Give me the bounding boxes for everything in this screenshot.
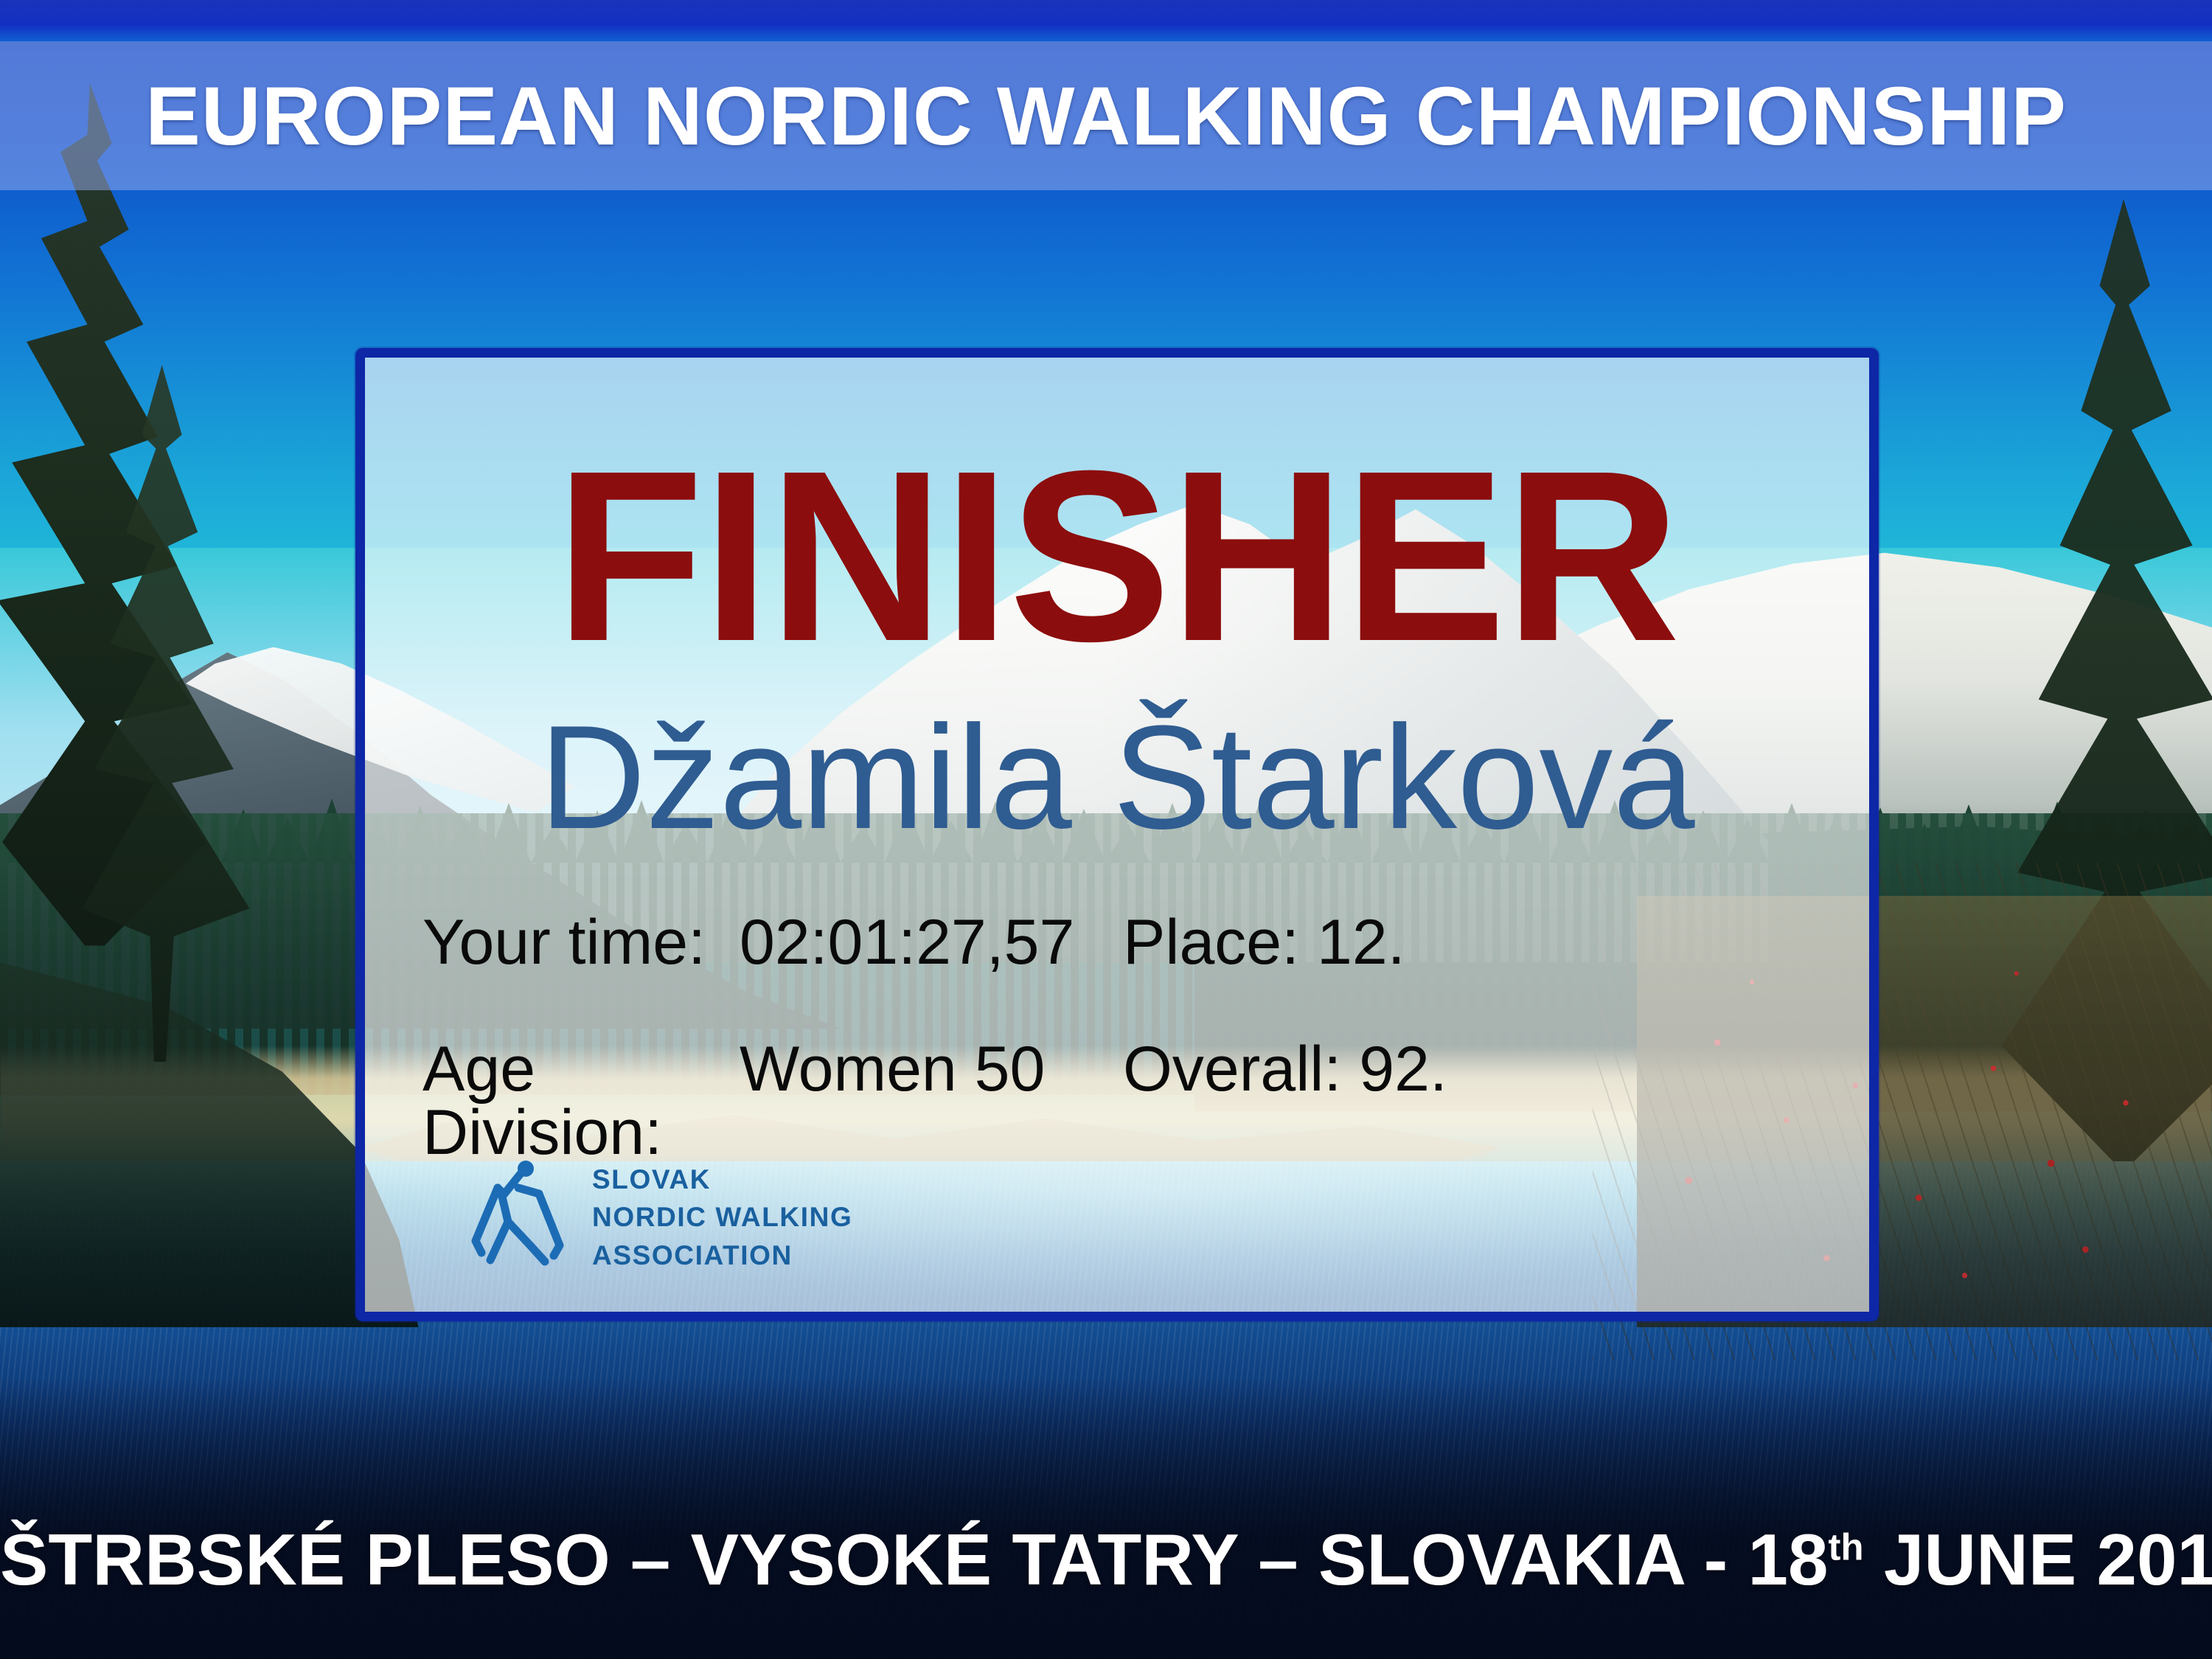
footer-suffix: JUNE 2016	[1864, 1519, 2212, 1600]
stat-row-time: Your time: 02:01:27,57 Place: 12.	[422, 911, 1809, 974]
footer-prefix: ŠTRBSKÉ PLESO – VYSOKÉ TATRY – SLOVAKIA …	[0, 1519, 1829, 1600]
athlete-name: Džamila Štarková	[365, 704, 1869, 852]
finisher-certificate-card: FINISHER Džamila Štarková Your time: 02:…	[355, 348, 1879, 1321]
overall-value: 92.	[1359, 1037, 1447, 1101]
page-title: EUROPEAN NORDIC WALKING CHAMPIONSHIP	[145, 69, 2067, 164]
place-label: Place:	[1093, 911, 1299, 974]
logo-line-2: NORDIC WALKING	[592, 1198, 852, 1236]
overall-label: Overall:	[1093, 1037, 1341, 1101]
logo-line-1: SLOVAK	[592, 1161, 852, 1198]
status-title: FINISHER	[365, 440, 1869, 672]
place-value: 12.	[1317, 911, 1405, 974]
top-accent-strip	[0, 0, 2212, 41]
walker-head	[518, 1161, 534, 1177]
stat-row-division: Age Division: Women 50 Overall: 92.	[422, 1037, 1809, 1164]
logo-line-3: ASSOCIATION	[592, 1237, 852, 1274]
certificate-page: EUROPEAN NORDIC WALKING CHAMPIONSHIP FIN…	[0, 0, 2212, 1659]
footer-ordinal: th	[1829, 1526, 1864, 1568]
nordic-walker-icon	[465, 1158, 576, 1276]
age-division-value: Women 50	[740, 1037, 1093, 1101]
association-logo: SLOVAK NORDIC WALKING ASSOCIATION	[465, 1158, 852, 1276]
time-value: 02:01:27,57	[740, 911, 1093, 974]
header-banner: EUROPEAN NORDIC WALKING CHAMPIONSHIP	[0, 41, 2212, 190]
association-logo-text: SLOVAK NORDIC WALKING ASSOCIATION	[592, 1161, 852, 1273]
event-location-date: ŠTRBSKÉ PLESO – VYSOKÉ TATRY – SLOVAKIA …	[0, 1518, 2212, 1601]
time-label: Your time:	[422, 911, 740, 974]
age-division-label: Age Division:	[422, 1037, 740, 1164]
